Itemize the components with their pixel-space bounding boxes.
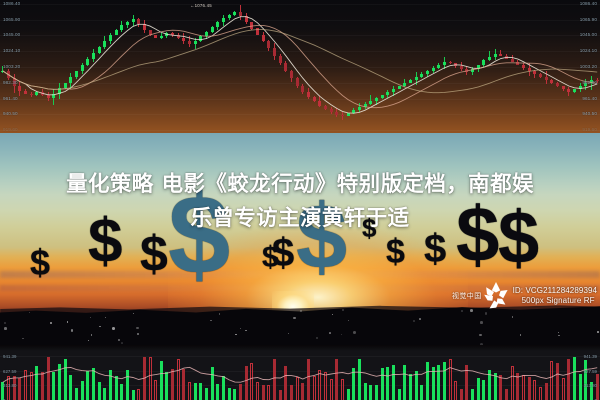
watermark-license: 500px Signature RF: [513, 296, 597, 306]
bokeh-dot: [413, 320, 415, 322]
bokeh-dot: [133, 313, 134, 314]
moving-average-line: [3, 17, 597, 114]
bokeh-dot: [288, 333, 289, 334]
volume-axis-tick: 313.80: [584, 383, 597, 388]
dollar-sign-icon: $: [498, 201, 539, 275]
volume-moving-average: [3, 367, 597, 382]
price-axis-tick: 1045.00: [3, 32, 20, 37]
price-axis-tick: 1045.00: [580, 32, 597, 37]
dollar-sign-icon: $: [140, 229, 168, 279]
bokeh-dot: [342, 309, 344, 311]
bokeh-dot: [67, 321, 68, 322]
bokeh-dot: [332, 314, 333, 315]
bokeh-dot: [245, 330, 247, 332]
price-axis-tick: 982.30: [3, 80, 18, 85]
dollar-sign-icon: $: [30, 245, 50, 281]
volume-axis-tick: 627.59: [3, 369, 16, 374]
bokeh-dot: [558, 332, 559, 333]
price-axis-tick: 940.50: [3, 111, 18, 116]
price-axis-tick: 919.60: [582, 127, 597, 132]
price-axis-tick: 1065.90: [3, 17, 20, 22]
bokeh-dot: [112, 327, 115, 330]
dollar-sign-icon: $: [386, 235, 405, 269]
price-axis-tick: 1003.20: [3, 64, 20, 69]
price-axis-tick: 1024.10: [580, 48, 597, 53]
bokeh-dot: [329, 332, 331, 334]
shutterstock-pinwheel-icon: [483, 281, 509, 311]
sunset-photo: $$$$$$$$$$$$: [0, 133, 600, 345]
moving-average-line: [3, 30, 597, 93]
volume-axis-tick: 941.39: [3, 354, 16, 359]
price-axis-tick: 1086.40: [3, 1, 20, 6]
price-axis-tick: 1065.90: [580, 17, 597, 22]
news-card: 1086.401065.901045.001024.101003.20982.3…: [0, 0, 600, 400]
price-axis-tick: 940.50: [582, 111, 597, 116]
bokeh-dot: [597, 331, 599, 333]
price-axis-tick: 1086.40: [580, 1, 597, 6]
volume-bar-chart: 941.39627.59313.800 941.39627.59313.800: [0, 345, 600, 400]
watermark-text-block: ID: VCG211284289394 500px Signature RF: [513, 286, 597, 306]
bokeh-dot: [137, 333, 139, 335]
bokeh-dot: [136, 327, 138, 329]
volume-ma-line: [0, 345, 600, 400]
bokeh-dot: [4, 327, 7, 330]
peak-annotation: ←1076.45: [190, 3, 212, 8]
price-axis-tick: 982.30: [582, 80, 597, 85]
dollar-sign-icon: $: [456, 195, 499, 273]
dollar-sign-icon: $: [424, 229, 446, 269]
price-axis-tick: 961.40: [3, 96, 18, 101]
bokeh-dot: [88, 340, 89, 341]
bokeh-dot: [479, 334, 482, 337]
bokeh-dot: [71, 329, 73, 331]
bokeh-dot: [341, 334, 342, 335]
price-axis-tick: 1003.20: [580, 64, 597, 69]
dollar-sign-icon: $: [296, 191, 347, 283]
bokeh-dot: [520, 334, 521, 335]
volume-axis-tick: 627.59: [584, 369, 597, 374]
bokeh-dot: [210, 320, 211, 321]
bokeh-dot: [353, 331, 356, 334]
watermark-brand-cn: 视觉中国: [452, 291, 482, 301]
volume-axis-tick: 941.39: [584, 354, 597, 359]
dollar-sign-icon: $: [168, 179, 230, 291]
watermark: 视觉中国 ID: VCG211284289394 500px Signature…: [452, 281, 597, 311]
bokeh-dot: [480, 321, 483, 324]
dollar-sign-icon: $: [88, 211, 122, 273]
dollar-sign-icon: $: [272, 233, 294, 273]
volume-axis-tick: 313.80: [3, 383, 16, 388]
watermark-id: ID: VCG211284289394: [513, 286, 597, 296]
price-axis-tick: 1024.10: [3, 48, 20, 53]
bokeh-dot: [50, 322, 52, 324]
price-axis-tick: 919.60: [3, 127, 18, 132]
price-axis-tick: 961.40: [582, 96, 597, 101]
dollar-sign-icon: $: [362, 215, 376, 241]
bokeh-dot: [29, 312, 30, 313]
bokeh-dot: [419, 318, 421, 320]
